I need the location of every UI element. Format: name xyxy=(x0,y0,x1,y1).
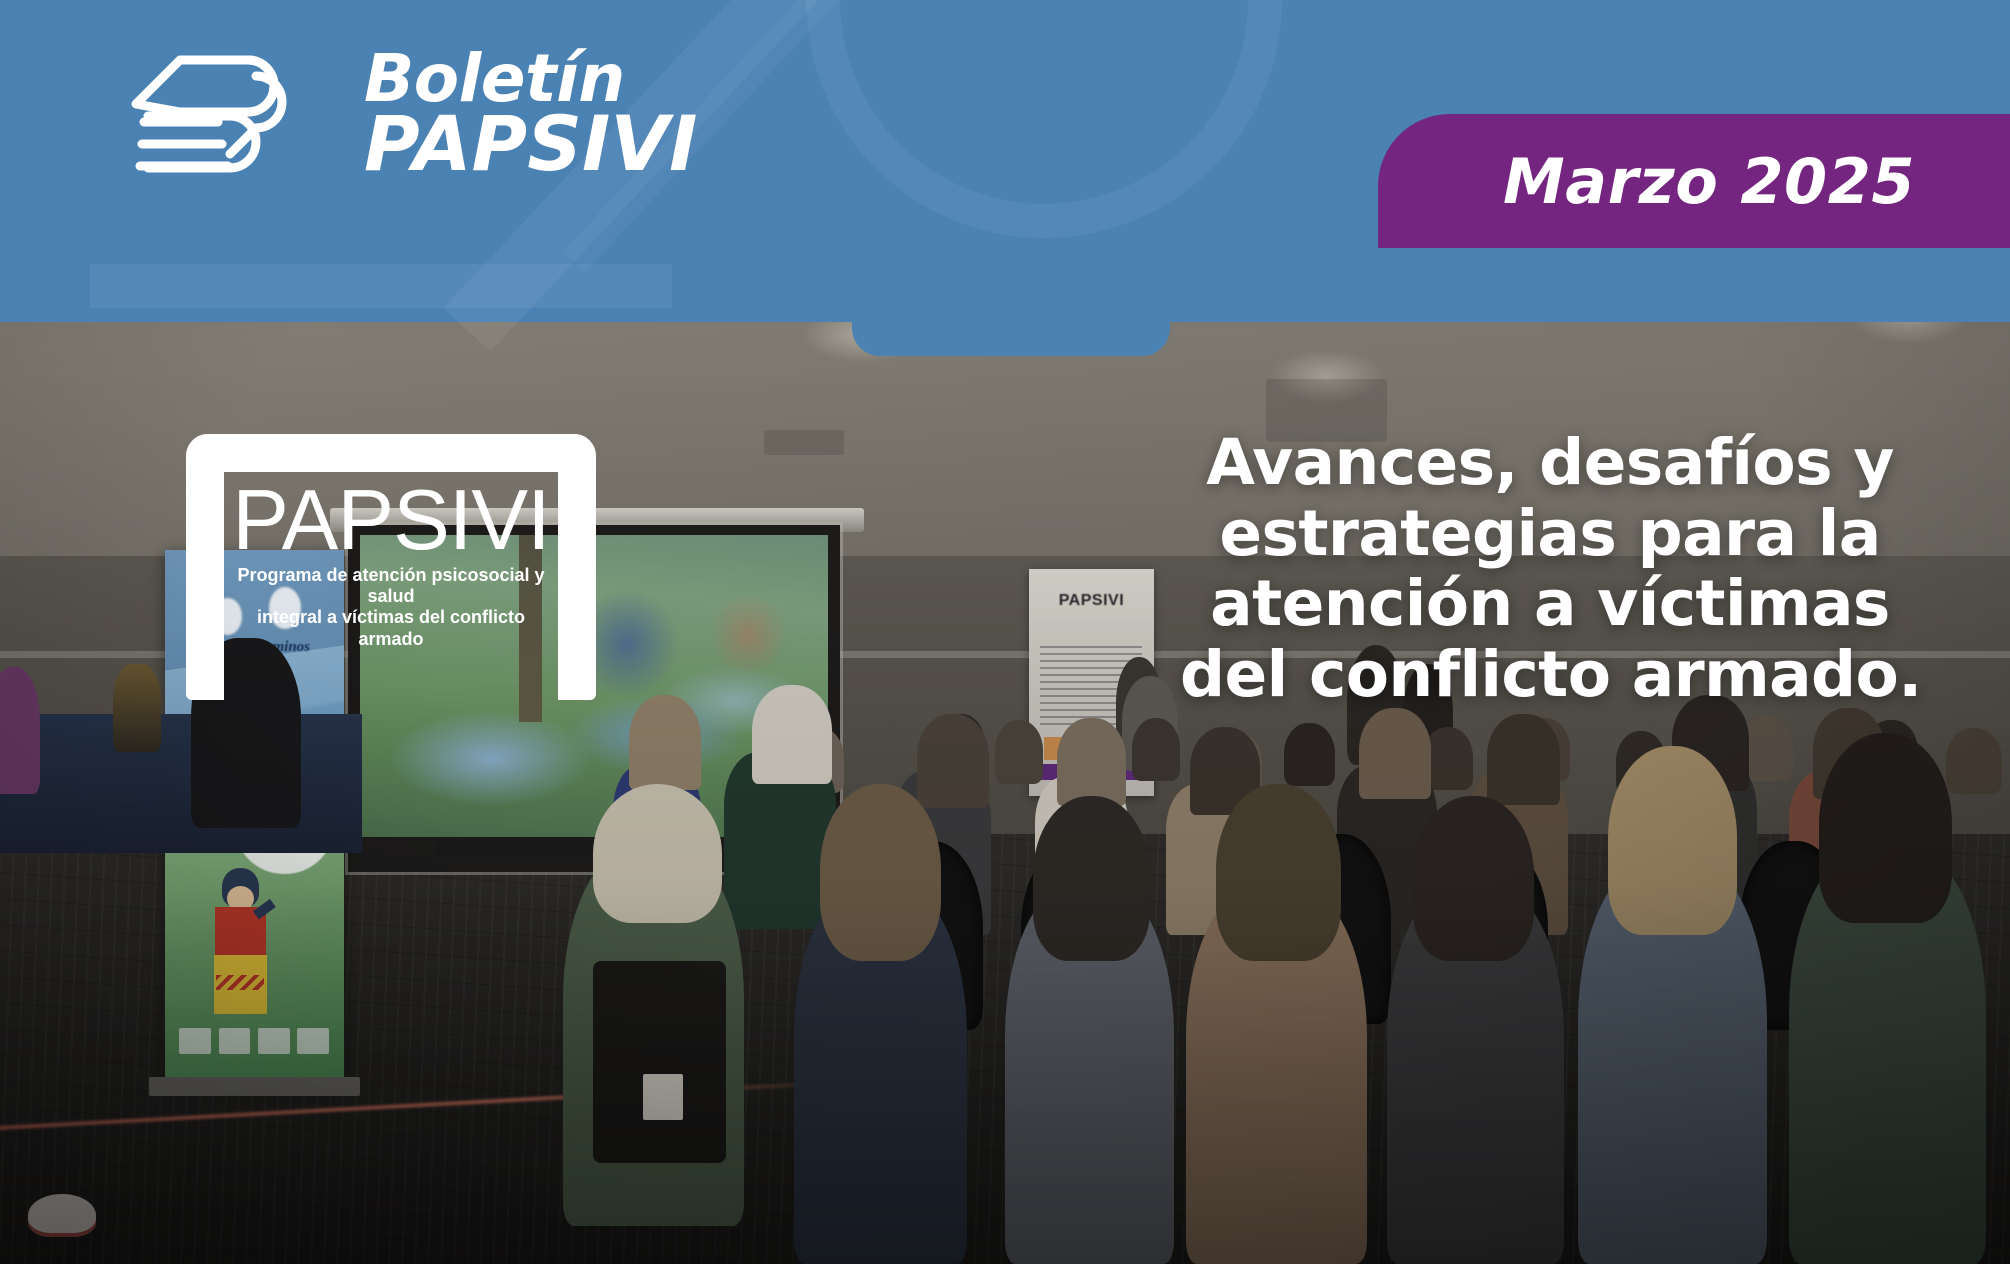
audience-hair xyxy=(1033,796,1150,960)
audience-hair xyxy=(1487,714,1559,805)
header-tab-notch xyxy=(852,322,1170,356)
papsivi-tagline-line-2: integral a víctimas del conflicto armado xyxy=(224,607,558,649)
audience-head xyxy=(1284,723,1334,786)
audience-head xyxy=(1946,728,2002,794)
banner-stand xyxy=(149,1077,360,1096)
headline-line-3: atención a víctimas xyxy=(1180,569,1920,640)
newsletter-cover: Tejiendo Caminos de Reparación y Paz PAP… xyxy=(0,0,2010,1264)
audience-hair xyxy=(1413,796,1534,960)
audience-head xyxy=(995,720,1043,783)
audience-hair xyxy=(629,695,701,790)
side-table xyxy=(0,714,362,853)
brand-text: Boletín PAPSIVI xyxy=(364,48,697,180)
papsivi-tagline-line-1: Programa de atención psicosocial y salud xyxy=(224,565,558,607)
audience-hat xyxy=(752,685,832,784)
papsivi-logo-card: PAPSIVI Programa de atención psicosocial… xyxy=(186,434,596,666)
brand-lockup: Boletín PAPSIVI xyxy=(118,48,697,180)
banner-logo-strip xyxy=(179,1022,329,1059)
table-object xyxy=(113,664,161,752)
audience-hair xyxy=(820,784,941,961)
audience-hair xyxy=(1359,708,1431,799)
decorative-rectangle xyxy=(90,264,672,308)
audience-hair xyxy=(1608,746,1737,936)
backpack-tag xyxy=(643,1074,683,1120)
audience-hair xyxy=(1216,784,1341,961)
headline-line-4: del conflicto armado. xyxy=(1180,640,1920,711)
header-band: Boletín PAPSIVI Marzo 2025 xyxy=(0,0,2010,322)
headline: Avances, desafíos y estrategias para la … xyxy=(1180,428,1920,710)
ceiling-speaker xyxy=(764,430,844,455)
papsivi-inner: PAPSIVI Programa de atención psicosocial… xyxy=(224,472,558,666)
audience-hair xyxy=(1057,718,1125,806)
wall-poster-title: PAPSIVI xyxy=(1039,592,1144,610)
banner-illustration xyxy=(211,868,270,1017)
audience-fur-hood xyxy=(593,784,722,923)
month-badge-label: Marzo 2025 xyxy=(1473,145,1915,218)
stacked-books-icon xyxy=(118,48,330,180)
backpack xyxy=(593,961,726,1163)
headline-line-1: Avances, desafíos y xyxy=(1180,428,1920,499)
month-badge: Marzo 2025 xyxy=(1378,114,2010,248)
headline-line-2: estrategias para la xyxy=(1180,499,1920,570)
papsivi-tagline: Programa de atención psicosocial y salud… xyxy=(224,565,558,650)
papsivi-wordmark: PAPSIVI xyxy=(232,484,549,559)
audience-head xyxy=(1132,718,1180,781)
brand-line-2: PAPSIVI xyxy=(364,109,697,180)
decorative-circle xyxy=(806,0,1282,238)
audience-hair xyxy=(1819,733,1952,923)
shoe xyxy=(28,1194,96,1237)
standing-person xyxy=(0,667,40,793)
audience-hair xyxy=(917,714,989,808)
